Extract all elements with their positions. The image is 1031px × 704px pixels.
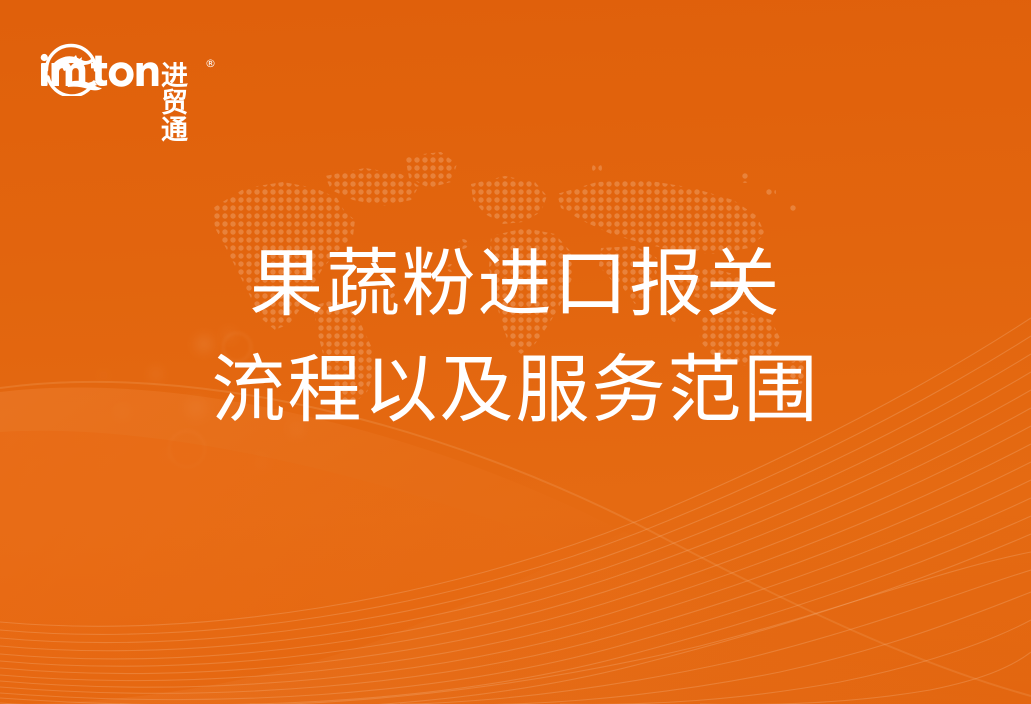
presentation-slide: 进贸通 ® 果蔬粉进口报关 流程以及服务范围 xyxy=(0,0,1031,704)
registered-trademark-icon: ® xyxy=(205,57,216,70)
logo-wordmark-chinese: 进贸通 xyxy=(161,63,203,144)
logo-wordmark-latin xyxy=(41,54,159,87)
slide-title: 果蔬粉进口报关 流程以及服务范围 xyxy=(0,248,1031,428)
title-line-1: 果蔬粉进口报关 xyxy=(0,248,1031,322)
brand-logo[interactable]: 进贸通 ® xyxy=(36,30,216,96)
title-line-2: 流程以及服务范围 xyxy=(0,354,1031,428)
